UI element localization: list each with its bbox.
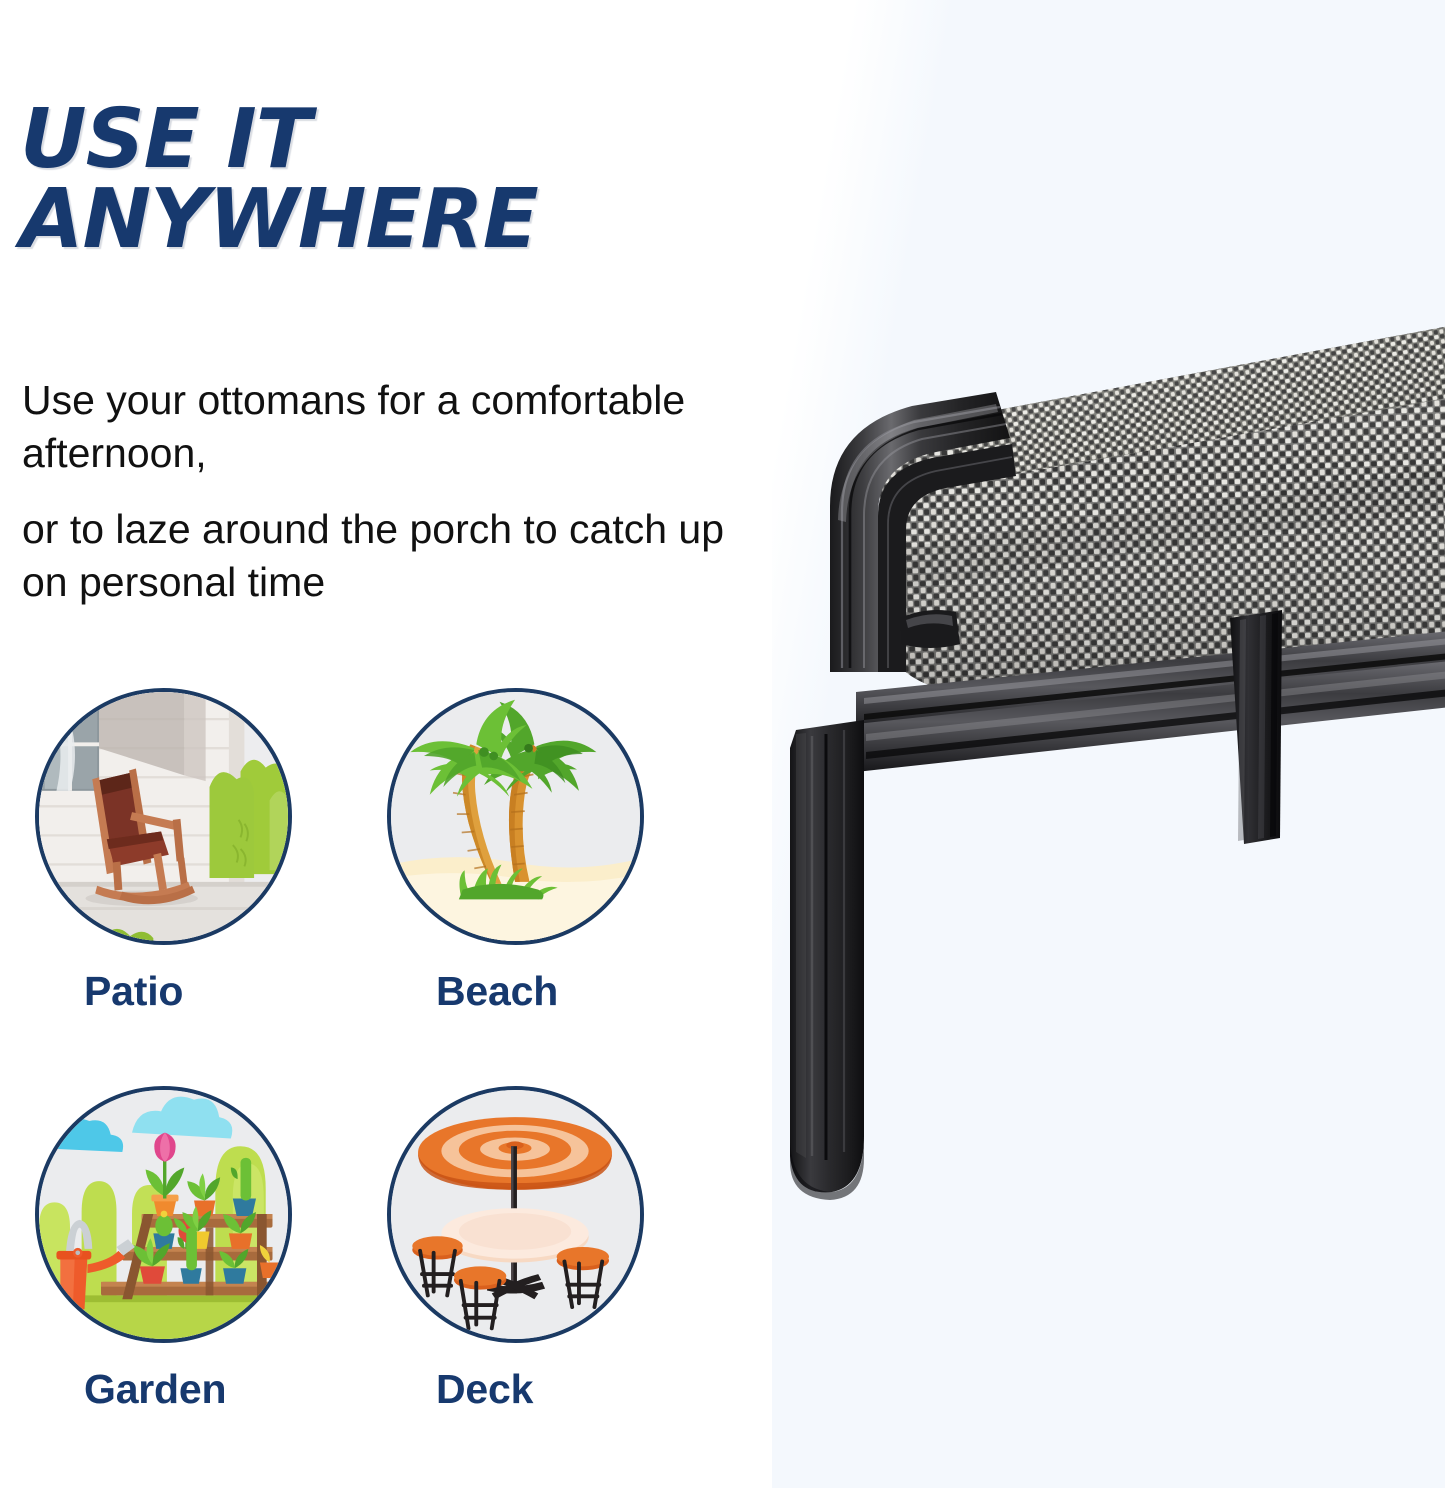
- use-case-item-deck[interactable]: Deck: [378, 1086, 730, 1484]
- use-case-label-deck: Deck: [436, 1366, 730, 1413]
- product-photo-ottoman: [760, 300, 1445, 1230]
- plant-shelf-icon: [35, 1086, 292, 1343]
- palm-trees-icon: [387, 688, 644, 945]
- use-case-icon-grid: Patio: [26, 688, 706, 1484]
- use-case-item-beach[interactable]: Beach: [378, 688, 730, 1086]
- page-headline: USE IT ANYWHERE: [20, 100, 720, 261]
- patio-umbrella-table-icon: [387, 1086, 644, 1343]
- body-paragraph-1: Use your ottomans for a comfortable afte…: [22, 374, 762, 481]
- use-case-item-garden[interactable]: Garden: [26, 1086, 378, 1484]
- body-copy: Use your ottomans for a comfortable afte…: [22, 374, 762, 609]
- use-case-label-beach: Beach: [436, 968, 730, 1015]
- use-case-item-patio[interactable]: Patio: [26, 688, 378, 1086]
- use-case-label-patio: Patio: [84, 968, 378, 1015]
- porch-rocking-chair-icon: [35, 688, 292, 945]
- body-paragraph-2: or to laze around the porch to catch up …: [22, 503, 762, 610]
- headline-line-2: ANYWHERE: [20, 180, 720, 260]
- use-case-label-garden: Garden: [84, 1366, 378, 1413]
